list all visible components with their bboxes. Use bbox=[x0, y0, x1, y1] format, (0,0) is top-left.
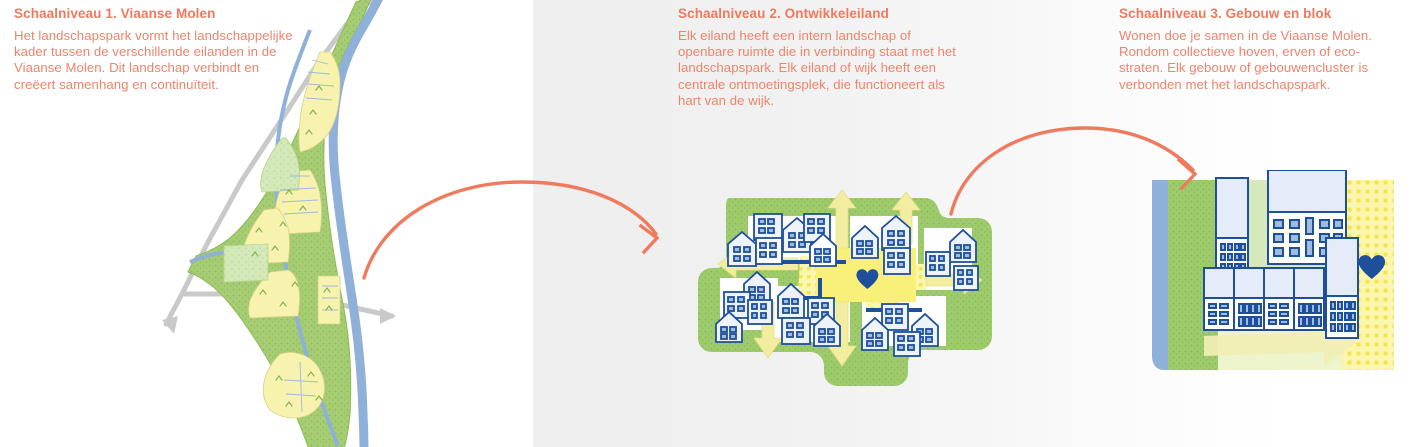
body-schaalniveau-1: Het landschapspark vormt het landschappe… bbox=[14, 28, 304, 93]
column-schaalniveau-3: Schaalniveau 3. Gebouw en blok Wonen doe… bbox=[1119, 5, 1399, 93]
heading-schaalniveau-1: Schaalniveau 1. Viaanse Molen bbox=[14, 5, 304, 22]
body-schaalniveau-2: Elk eiland heeft een intern landschap of… bbox=[678, 28, 970, 109]
connector-arrow-1-to-2 bbox=[358, 176, 668, 291]
block-buildings bbox=[1204, 170, 1358, 338]
body-schaalniveau-3: Wonen doe je samen in de Viaanse Molen. … bbox=[1119, 28, 1399, 93]
column-schaalniveau-2: Schaalniveau 2. Ontwikkeleiland Elk eila… bbox=[678, 5, 970, 109]
heading-schaalniveau-2: Schaalniveau 2. Ontwikkeleiland bbox=[678, 5, 970, 22]
heading-schaalniveau-3: Schaalniveau 3. Gebouw en blok bbox=[1119, 5, 1399, 22]
diagram-canvas: Schaalniveau 1. Viaanse Molen Het landsc… bbox=[0, 0, 1412, 447]
connector-arrow-2-to-3 bbox=[945, 118, 1215, 228]
column-schaalniveau-1: Schaalniveau 1. Viaanse Molen Het landsc… bbox=[14, 5, 304, 93]
